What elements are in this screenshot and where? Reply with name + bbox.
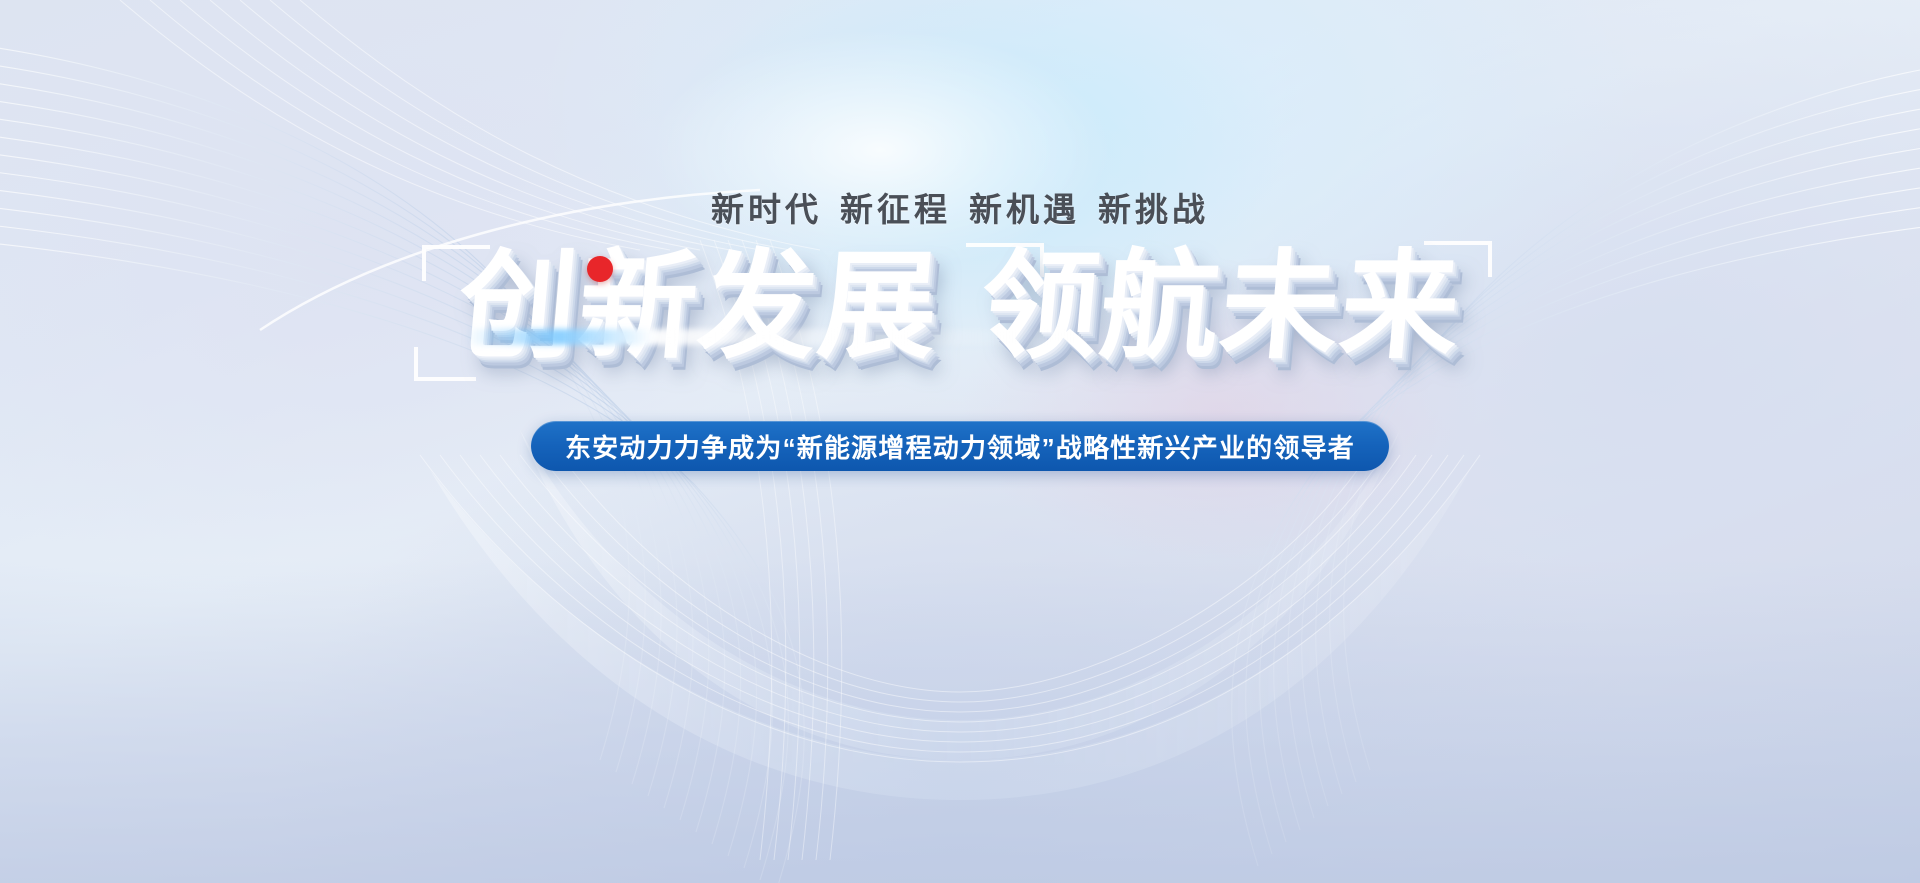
corporate-banner: 新时代新征程新机遇新挑战 创新发展领航未来 东安动力力争成为“新能源增程动力领域… <box>0 0 1920 883</box>
headline-phrase-2: 领航未来 <box>975 241 1467 373</box>
slogan-pill-text: 东安动力力争成为“新能源增程动力领域”战略性新兴产业的领导者 <box>565 428 1355 465</box>
headline-block: 创新发展领航未来 <box>410 237 1510 377</box>
slogan-pill: 东安动力力争成为“新能源增程动力领域”战略性新兴产业的领导者 <box>531 421 1389 471</box>
eyebrow-tagline: 新时代新征程新机遇新挑战 <box>711 183 1209 231</box>
headline-phrase-1: 创新发展 <box>453 241 945 373</box>
banner-content: 新时代新征程新机遇新挑战 创新发展领航未来 东安动力力争成为“新能源增程动力领域… <box>0 0 1920 883</box>
eyebrow-segment-3: 新机遇 <box>969 191 1080 228</box>
eyebrow-segment-4: 新挑战 <box>1098 191 1209 228</box>
headline-sheen-highlight <box>370 329 1550 345</box>
headline-text: 创新发展领航未来 <box>404 237 1516 377</box>
eyebrow-segment-1: 新时代 <box>711 191 822 228</box>
red-dot-accent-icon <box>587 256 613 282</box>
eyebrow-segment-2: 新征程 <box>840 191 951 228</box>
